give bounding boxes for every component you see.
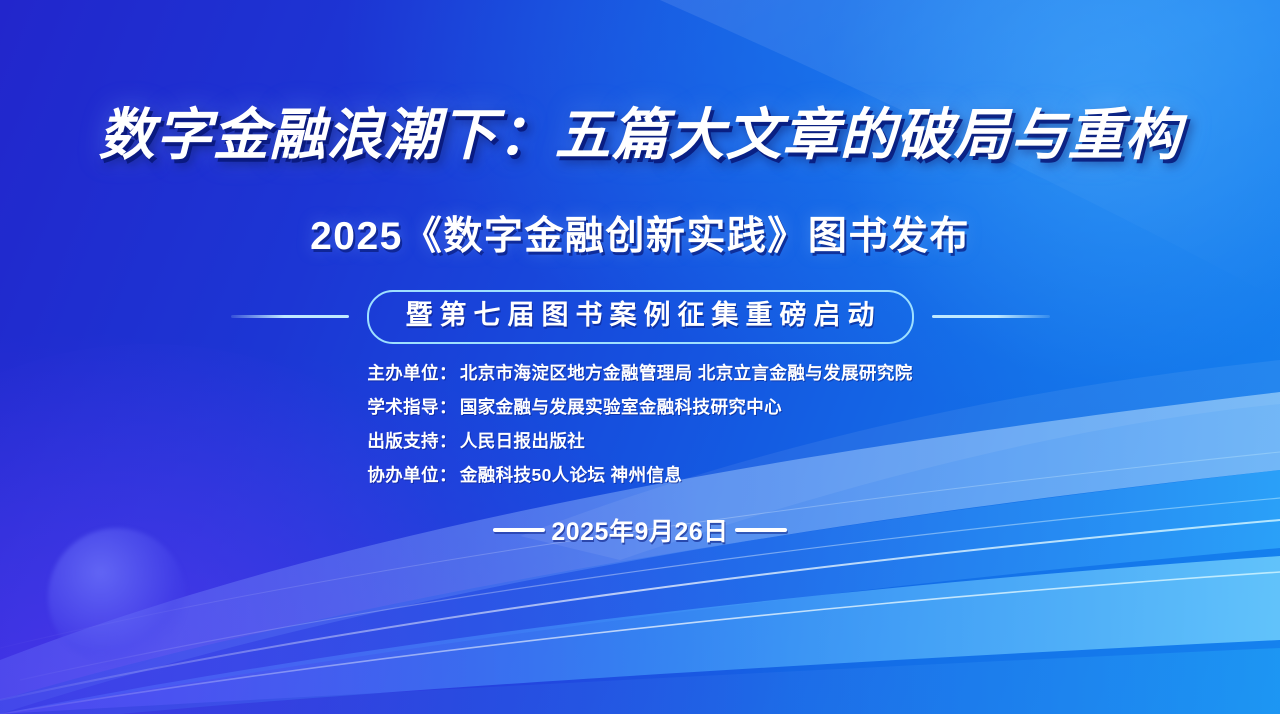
poster-content: 数字金融浪潮下：五篇大文章的破局与重构 2025《数字金融创新实践》图书发布 暨…	[0, 0, 1280, 714]
organizer-row: 主办单位：北京市海淀区地方金融管理局 北京立言金融与发展研究院	[367, 358, 912, 388]
organizer-row: 协办单位：金融科技50人论坛 神州信息	[367, 460, 912, 490]
organizer-label: 学术指导：	[367, 397, 457, 417]
organizer-label: 协办单位：	[367, 465, 457, 485]
pill-rule-left	[231, 315, 349, 318]
organizer-value: 金融科技50人论坛 神州信息	[460, 465, 682, 485]
pill-banner-text: 暨第七届图书案例征集重磅启动	[367, 290, 914, 344]
organizer-block: 主办单位：北京市海淀区地方金融管理局 北京立言金融与发展研究院 学术指导：国家金…	[0, 358, 1280, 490]
organizer-label: 主办单位：	[367, 363, 457, 383]
organizer-value: 人民日报出版社	[460, 431, 585, 451]
organizer-row: 学术指导：国家金融与发展实验室金融科技研究中心	[367, 392, 912, 422]
date-dash-left	[493, 528, 545, 532]
poster-subtitle: 2025《数字金融创新实践》图书发布	[0, 214, 1280, 261]
organizer-value: 国家金融与发展实验室金融科技研究中心	[460, 397, 782, 417]
pill-banner-row: 暨第七届图书案例征集重磅启动	[0, 290, 1280, 344]
organizer-row: 出版支持：人民日报出版社	[367, 426, 912, 456]
page-title: 数字金融浪潮下：五篇大文章的破局与重构	[0, 104, 1280, 167]
event-poster: 数字金融浪潮下：五篇大文章的破局与重构 2025《数字金融创新实践》图书发布 暨…	[0, 0, 1280, 714]
event-date: 2025年9月26日	[547, 512, 732, 548]
organizer-label: 出版支持：	[367, 431, 457, 451]
event-date-row: 2025年9月26日	[0, 512, 1280, 548]
organizer-value: 北京市海淀区地方金融管理局 北京立言金融与发展研究院	[460, 363, 913, 383]
pill-rule-right	[932, 315, 1050, 318]
date-dash-right	[735, 528, 787, 532]
